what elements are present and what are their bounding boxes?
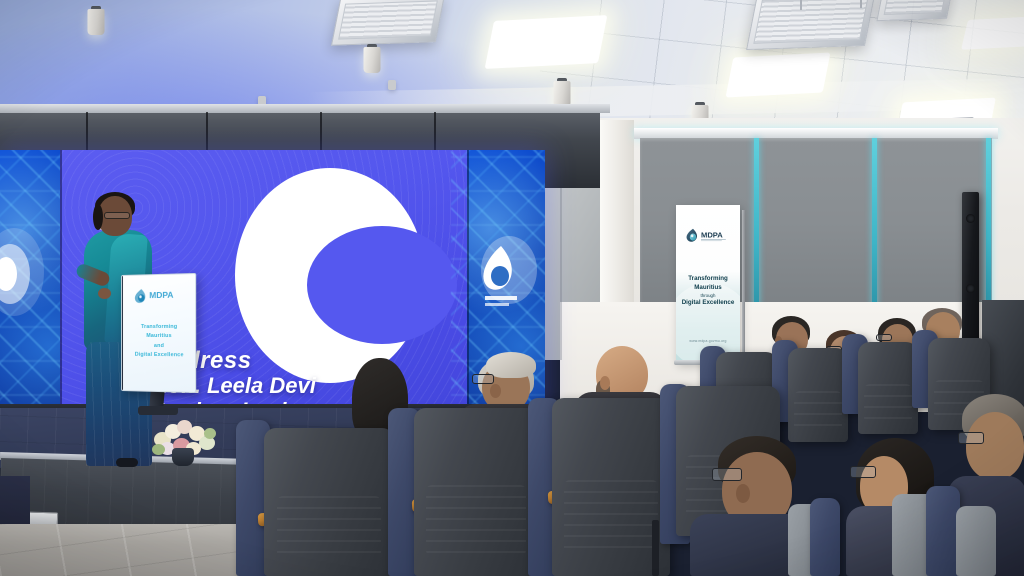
seat-side-panel <box>956 506 996 576</box>
eyeglasses <box>104 212 130 219</box>
lectern-tagline-connector: and <box>130 341 189 351</box>
auditorium-seat <box>858 342 918 434</box>
banner-support-pole <box>742 210 745 362</box>
blind-seam-glow <box>986 138 991 306</box>
blind-seam-glow <box>754 138 759 306</box>
banner-tagline: Transforming Mauritius through Digital E… <box>680 275 736 308</box>
flower-stand <box>172 448 194 466</box>
lectern-tagline-line-3: Digital Excellence <box>130 351 189 361</box>
stage-side-step <box>0 476 30 530</box>
mdpa-logo: MDPA <box>685 227 733 244</box>
banner-tagline-line-1: Transforming <box>680 275 736 284</box>
lectern-sign: MDPA Transforming Mauritius and Digital … <box>121 273 196 393</box>
mdpa-logo: MDPA <box>132 286 187 305</box>
led-flat-panel-light <box>961 16 1024 50</box>
attendee-ear <box>600 376 610 390</box>
eyeglasses <box>876 334 892 341</box>
lectern-foot <box>138 406 178 415</box>
roll-up-banner: MDPA Transforming Mauritius through Digi… <box>676 205 740 363</box>
attendee-ear <box>490 384 501 398</box>
banner-tagline-line-3: Digital Excellence <box>680 299 736 308</box>
auditorium-seat <box>414 408 538 576</box>
ac-support-rod <box>800 0 802 10</box>
ac-ceiling-diffuser <box>331 0 445 46</box>
banner-url: www.mdpa.govmu.org <box>680 339 736 343</box>
lectern-tagline-line-1: Transforming <box>130 323 189 332</box>
auditorium-seat <box>788 348 848 442</box>
led-flat-panel-light <box>485 15 608 69</box>
seat-leg <box>652 520 659 576</box>
attendee-hair-top <box>486 352 536 378</box>
attendee-ear <box>736 484 750 503</box>
auditorium-seat <box>264 428 394 576</box>
eyeglasses <box>850 466 876 478</box>
svg-text:MDPA: MDPA <box>701 231 723 240</box>
lectern-tagline-line-2: Mauritius <box>130 332 189 341</box>
ceiling-sensor <box>388 80 396 90</box>
eyeglasses <box>958 432 984 444</box>
ac-ceiling-diffuser <box>746 0 876 50</box>
attendee-head <box>966 412 1024 480</box>
ac-ceiling-diffuser <box>876 0 953 21</box>
seat-side-panel <box>926 486 960 576</box>
conference-hall-screenshot: MDPA Transforming Mauritius through Digi… <box>0 0 1024 576</box>
seat-side-panel <box>810 498 840 576</box>
led-flat-panel-light <box>726 53 831 98</box>
left-wall-rail <box>0 104 610 113</box>
eyeglasses <box>712 468 742 481</box>
eyeglasses <box>472 374 494 384</box>
svg-text:MDPA: MDPA <box>149 290 173 301</box>
led-panel-seam <box>60 150 62 412</box>
banner-tagline-line-2: Mauritius <box>680 284 736 293</box>
led-panel-seam <box>467 150 469 412</box>
ac-support-rod <box>860 0 862 8</box>
floral-arrangement <box>150 418 220 460</box>
blind-seam-glow <box>872 138 877 306</box>
lectern-tagline: Transforming Mauritius and Digital Excel… <box>130 323 189 361</box>
